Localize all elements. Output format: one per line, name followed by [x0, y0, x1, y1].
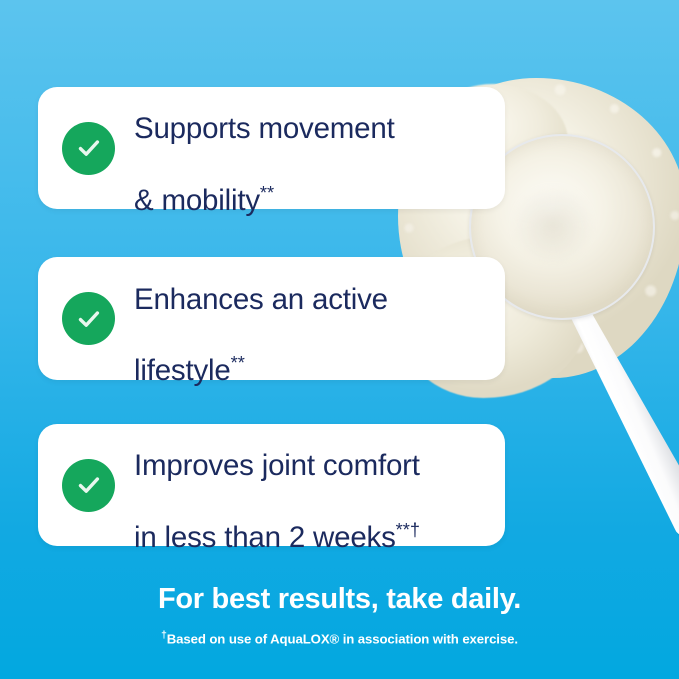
benefit-card-1: Supports movement & mobility** — [38, 87, 505, 209]
check-circle-icon — [62, 292, 115, 345]
benefit-2-footnote-marker: ** — [231, 352, 245, 373]
tagline: For best results, take daily. — [0, 583, 679, 616]
check-circle-icon — [62, 459, 115, 512]
footnote-text: Based on use of AquaLOX® in association … — [167, 631, 518, 646]
benefit-1-footnote-marker: ** — [260, 182, 274, 203]
scoop-handle — [540, 260, 679, 542]
benefit-3-footnote-marker: **† — [396, 519, 420, 540]
benefit-1-line-2: & mobility — [134, 184, 260, 217]
benefit-card-3-text: Improves joint comfort in less than 2 we… — [134, 415, 420, 556]
footnote: †Based on use of AquaLOX® in association… — [0, 630, 679, 646]
product-benefits-infographic: Supports movement & mobility** Enhances … — [0, 0, 679, 679]
benefit-card-3: Improves joint comfort in less than 2 we… — [38, 424, 505, 546]
benefit-3-line-2: in less than 2 weeks — [134, 521, 396, 554]
benefit-2-line-2: lifestyle — [134, 354, 231, 387]
check-circle-icon — [62, 122, 115, 175]
benefit-3-line-1: Improves joint comfort — [134, 449, 420, 482]
benefit-card-2-text: Enhances an active lifestyle** — [134, 248, 388, 389]
benefit-1-line-1: Supports movement — [134, 112, 395, 145]
benefit-card-1-text: Supports movement & mobility** — [134, 78, 395, 219]
benefit-card-2: Enhances an active lifestyle** — [38, 257, 505, 380]
benefit-2-line-1: Enhances an active — [134, 283, 388, 316]
